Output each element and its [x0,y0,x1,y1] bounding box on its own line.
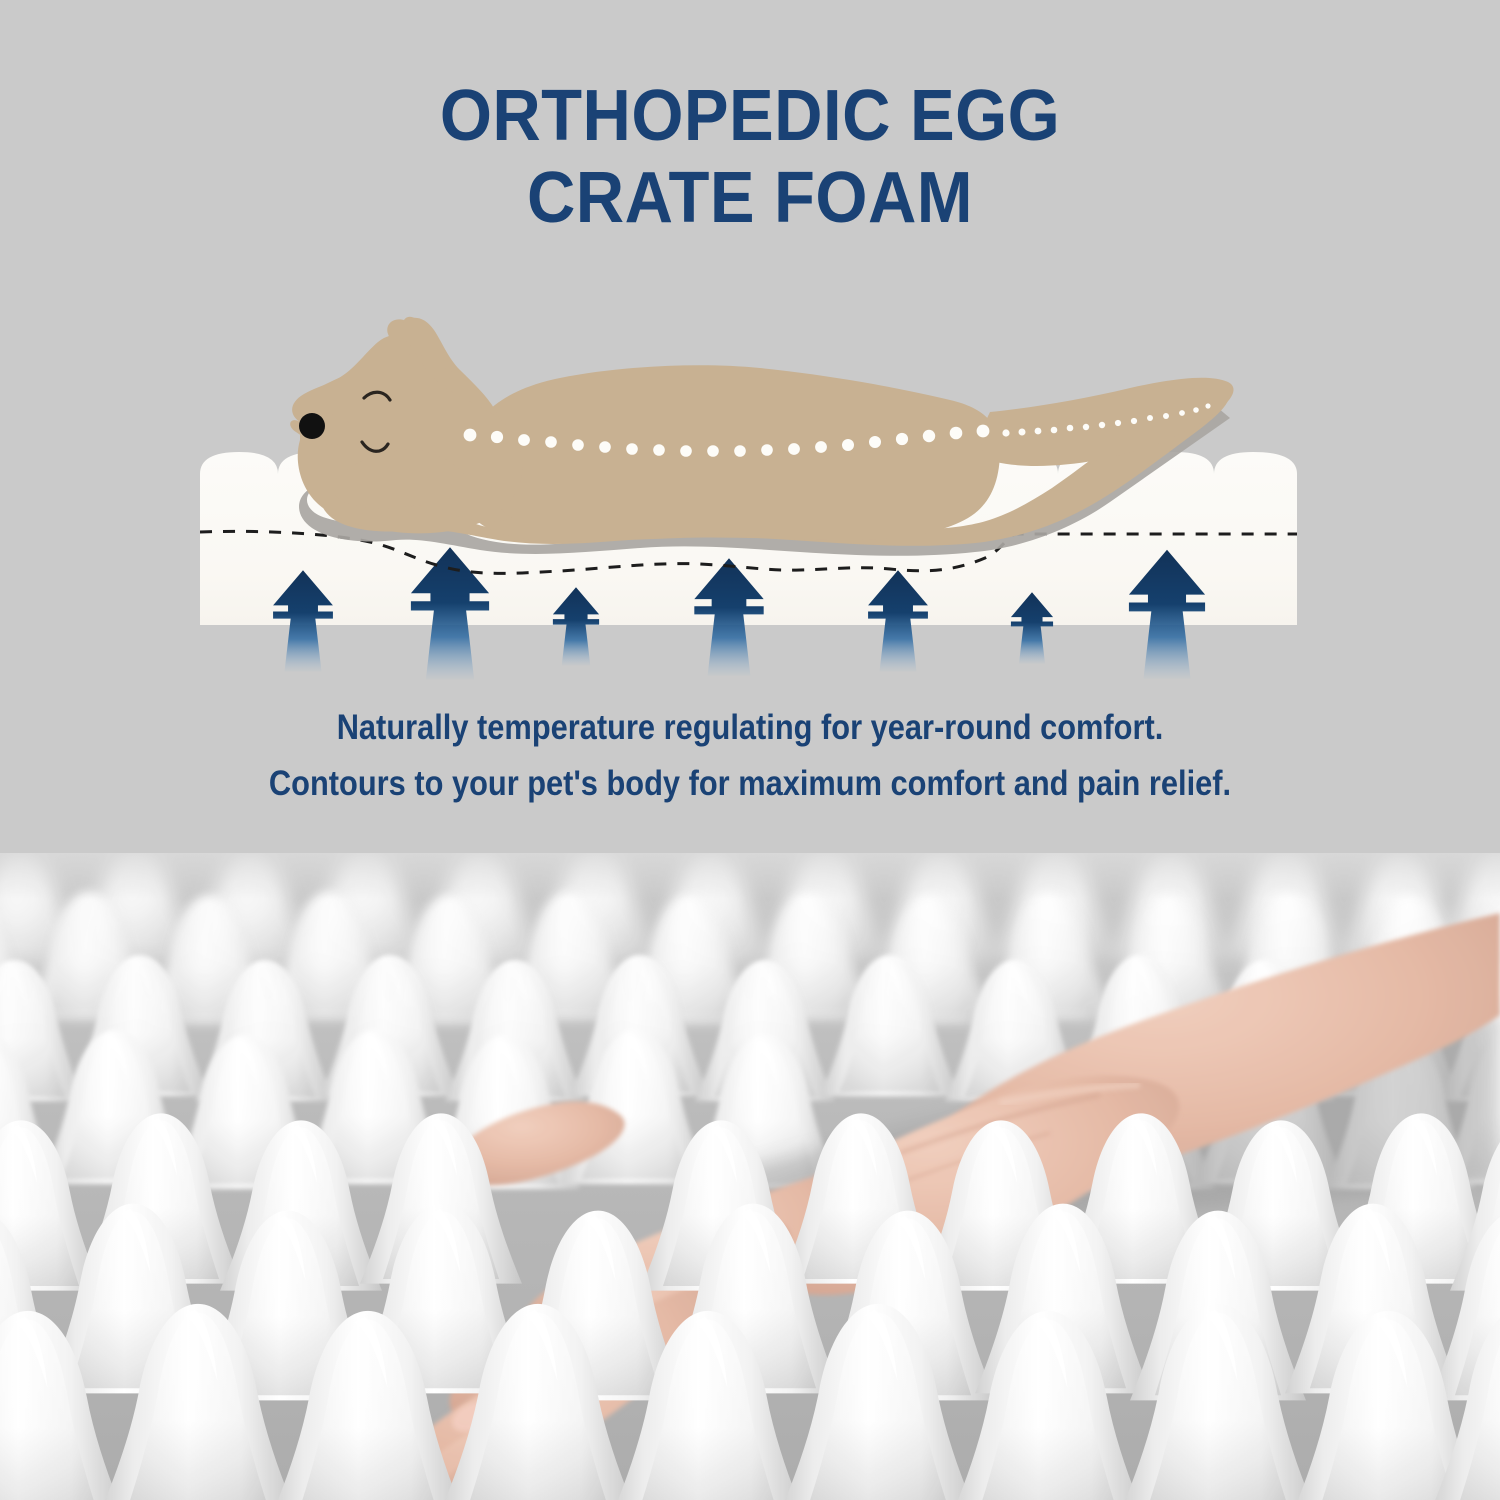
page-title: ORTHOPEDIC EGG CRATE FOAM [53,75,1448,239]
product-feature-graphic: ORTHOPEDIC EGG CRATE FOAM [0,0,1500,1500]
info-panel: ORTHOPEDIC EGG CRATE FOAM [0,0,1500,853]
foam-texture-photo [0,853,1500,1500]
feature-description-line-1: Naturally temperature regulating for yea… [90,700,1410,756]
page-title-line-1: ORTHOPEDIC EGG [53,75,1448,157]
feature-description: Naturally temperature regulating for yea… [90,700,1410,812]
dog-on-foam-illustration [0,290,1500,690]
page-title-line-2: CRATE FOAM [53,157,1448,239]
feature-description-line-2: Contours to your pet's body for maximum … [90,756,1410,812]
dog-nose-icon [299,413,325,439]
